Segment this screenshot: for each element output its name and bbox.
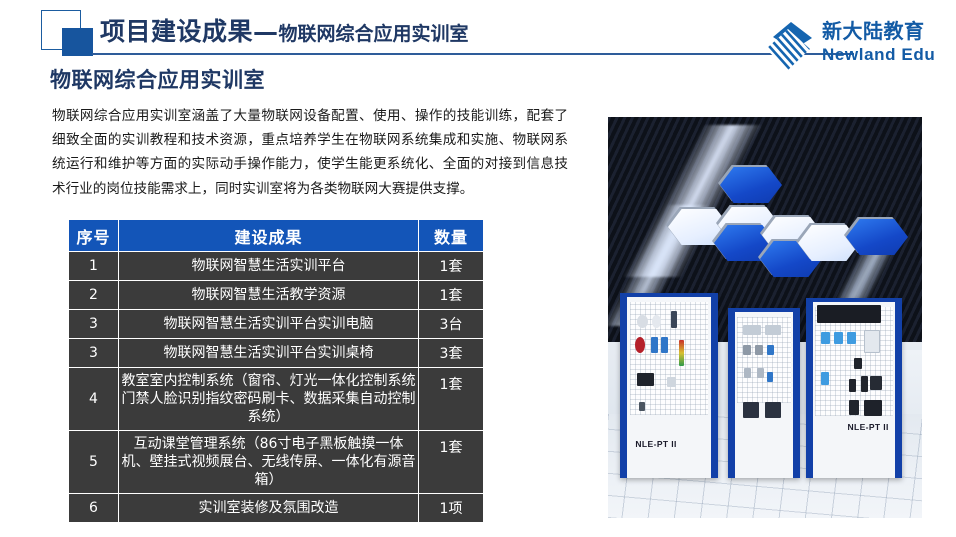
cell-name: 教室室内控制系统（窗帘、灯光一体化控制系统门禁人脸识别指纹密码刷卡、数据采集自动…: [119, 368, 419, 431]
cell-name: 实训室装修及氛围改造: [119, 494, 419, 523]
page-title: 项目建设成果—物联网综合应用实训室: [100, 19, 469, 44]
brand-logo: 新大陆教育 Newland Edu: [760, 18, 946, 74]
cell-qty: 1项: [419, 494, 484, 523]
rack-screen: [743, 402, 759, 419]
rack-device: [667, 377, 675, 388]
training-rack-right: NLE-PT II: [806, 298, 902, 478]
table-row: 3物联网智慧生活实训平台实训电脑3台: [69, 310, 484, 339]
cell-qty: 1套: [419, 431, 484, 494]
rack-device: [821, 332, 830, 344]
table-row: 6实训室装修及氛围改造1项: [69, 494, 484, 523]
cell-no: 4: [69, 368, 119, 431]
rack-device: [661, 337, 669, 353]
table-row: 5互动课堂管理系统（86寸电子黑板触摸一体机、壁挂式视频展台、无线传屏、一体化有…: [69, 431, 484, 494]
rack-device: [870, 376, 881, 390]
column-header-name: 建设成果: [119, 220, 419, 252]
rack-device: [849, 379, 856, 391]
cell-no: 6: [69, 494, 119, 523]
rack-device: [864, 330, 880, 353]
table-row: 4教室室内控制系统（窗帘、灯光一体化控制系统门禁人脸识别指纹密码刷卡、数据采集自…: [69, 368, 484, 431]
table-body: 1物联网智慧生活实训平台1套2物联网智慧生活教学资源1套3物联网智慧生活实训平台…: [69, 252, 484, 523]
rack-device: [637, 315, 648, 328]
rack-device: [864, 400, 882, 416]
column-header-qty: 数量: [419, 220, 484, 252]
rack-device: [767, 372, 772, 382]
table-head: 序号 建设成果 数量: [69, 220, 484, 252]
header-divider: [92, 53, 854, 55]
rack-label-right: NLE-PT II: [847, 422, 888, 432]
rack-label-left: NLE-PT II: [635, 439, 676, 449]
table-header-row: 序号 建设成果 数量: [69, 220, 484, 252]
table-row: 2物联网智慧生活教学资源1套: [69, 281, 484, 310]
rack-screen: [765, 402, 781, 419]
rack-device: [639, 402, 646, 411]
cell-name: 物联网智慧生活教学资源: [119, 281, 419, 310]
cell-no: 1: [69, 252, 119, 281]
training-rack-middle: [728, 308, 800, 478]
cell-no: 3: [69, 310, 119, 339]
rack-device: [765, 325, 781, 335]
cell-name: 物联网智慧生活实训平台实训桌椅: [119, 339, 419, 368]
cell-qty: 3台: [419, 310, 484, 339]
cell-qty: 1套: [419, 281, 484, 310]
cell-qty: 1套: [419, 252, 484, 281]
rack-signal-tower: [679, 340, 684, 365]
construction-results-table: 序号 建设成果 数量 1物联网智慧生活实训平台1套2物联网智慧生活教学资源1套3…: [68, 219, 484, 523]
section-heading: 物联网综合应用实训室: [50, 64, 265, 94]
cell-no: 2: [69, 281, 119, 310]
rack-device: [671, 311, 678, 327]
table-row: 1物联网智慧生活实训平台1套: [69, 252, 484, 281]
rack-device: [849, 400, 859, 414]
rack-device: [757, 368, 764, 378]
cell-qty: 1套: [419, 368, 484, 431]
rack-device: [821, 372, 829, 384]
newland-diamond-icon: [760, 20, 816, 74]
table-row: 3物联网智慧生活实训平台实训桌椅3套: [69, 339, 484, 368]
brand-logo-text: 新大陆教育 Newland Edu: [822, 18, 946, 66]
page-title-sub: 物联网综合应用实训室: [279, 24, 469, 45]
column-header-no: 序号: [69, 220, 119, 252]
cell-name: 互动课堂管理系统（86寸电子黑板触摸一体机、壁挂式视频展台、无线传屏、一体化有源…: [119, 431, 419, 494]
rack-device: [743, 345, 751, 355]
rack-device: [637, 373, 654, 386]
intro-paragraph: 物联网综合应用实训室涵盖了大量物联网设备配置、使用、操作的技能训练，配套了细致全…: [52, 104, 568, 201]
rack-device: [755, 345, 763, 355]
training-rack-left: NLE-PT II: [620, 293, 718, 478]
cell-qty: 3套: [419, 339, 484, 368]
rack-device: [744, 368, 751, 378]
page-title-separator: —: [253, 17, 279, 46]
cell-name: 物联网智慧生活实训平台实训电脑: [119, 310, 419, 339]
cell-name: 物联网智慧生活实训平台: [119, 252, 419, 281]
lab-photo: NLE-PT II NLE-PT II: [608, 117, 922, 518]
rack-device: [651, 337, 659, 353]
decorative-square-filled: [62, 28, 93, 56]
rack-device: [854, 358, 862, 369]
rack-device: [847, 332, 856, 344]
rack-screen: [817, 305, 881, 323]
rack-device: [834, 332, 843, 344]
page-title-main: 项目建设成果: [100, 17, 253, 46]
cell-no: 5: [69, 431, 119, 494]
brand-name-en: Newland Edu: [822, 44, 946, 66]
cell-no: 3: [69, 339, 119, 368]
rack-device: [767, 345, 774, 355]
rack-device: [861, 376, 868, 392]
rack-device: [743, 325, 760, 335]
brand-name-cn: 新大陆教育: [822, 18, 946, 44]
